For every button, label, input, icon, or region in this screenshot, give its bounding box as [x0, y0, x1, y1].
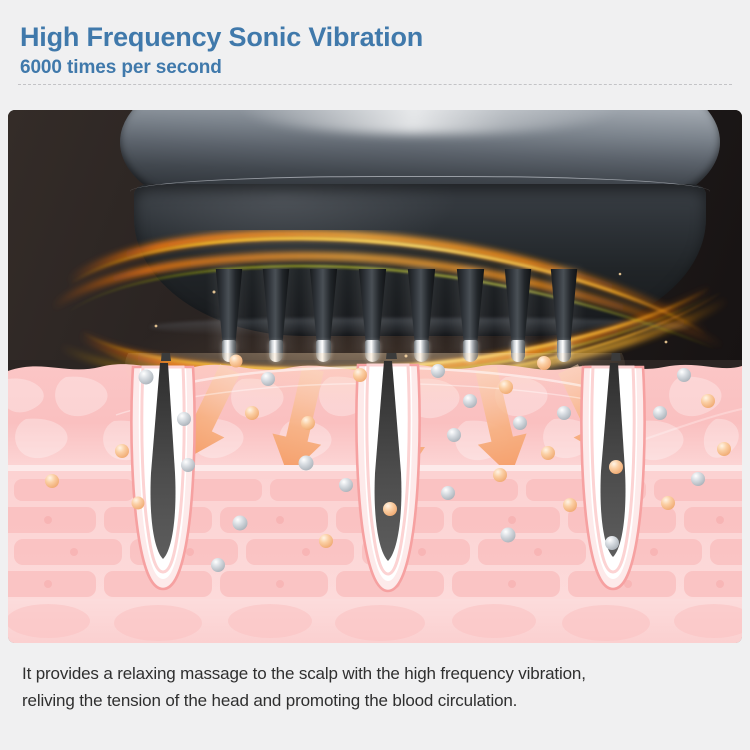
massage-prong: [549, 264, 579, 362]
header: High Frequency Sonic Vibration 6000 time…: [0, 0, 750, 110]
illustration-panel: [8, 110, 742, 643]
massage-prong: [455, 256, 486, 362]
massage-prong: [261, 259, 291, 362]
caption-line-1: It provides a relaxing massage to the sc…: [22, 660, 734, 687]
massage-prong: [503, 260, 533, 362]
massage-prong: [214, 262, 244, 362]
header-divider: [18, 84, 732, 85]
massage-prong-array: [8, 252, 742, 362]
skin-cross-section: [8, 353, 742, 643]
page-subtitle: 6000 times per second: [20, 57, 222, 79]
massage-prong: [308, 256, 339, 362]
page-title: High Frequency Sonic Vibration: [20, 22, 423, 53]
massage-prong: [406, 254, 437, 362]
caption-line-2: reliving the tension of the head and pro…: [22, 687, 734, 714]
device-seam-line: [130, 176, 710, 207]
infographic-page: High Frequency Sonic Vibration 6000 time…: [0, 0, 750, 750]
caption: It provides a relaxing massage to the sc…: [22, 660, 734, 714]
massage-prong: [357, 254, 388, 362]
